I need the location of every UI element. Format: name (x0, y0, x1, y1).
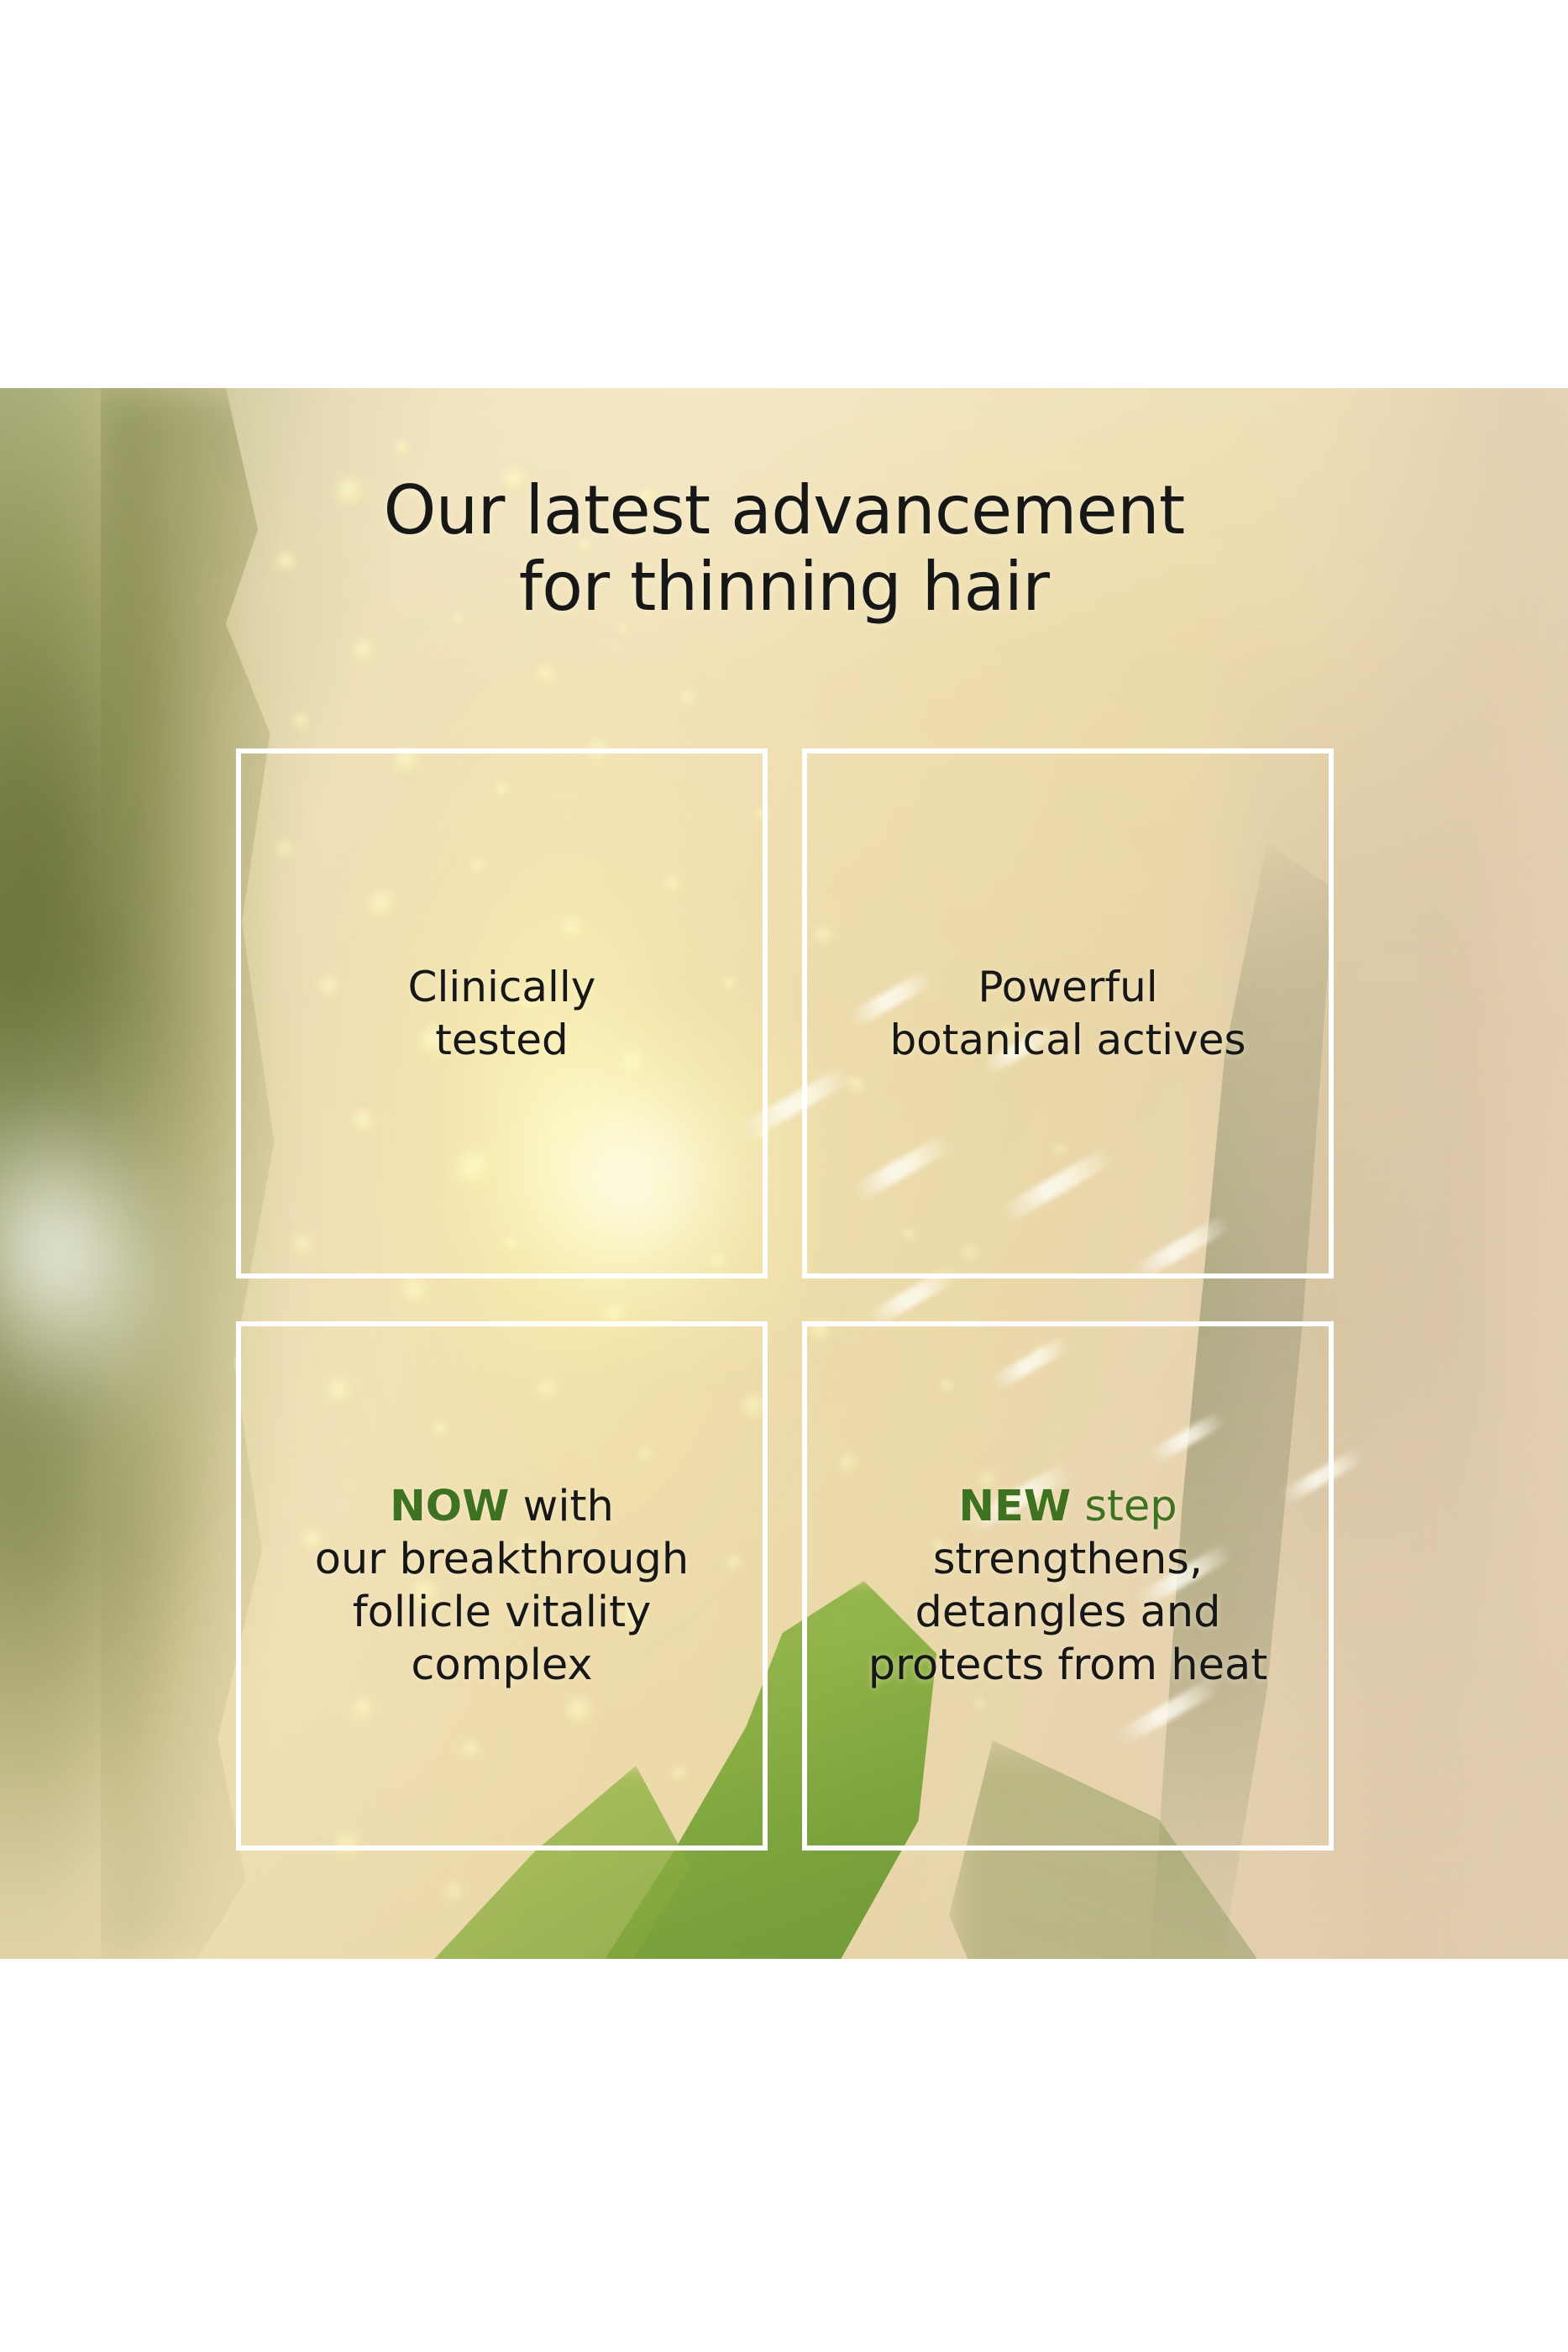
benefit-box-new-step-benefits: NEW stepstrengthens,detangles andprotect… (802, 1321, 1334, 1851)
benefit-text-clinically-tested: Clinicallytested (396, 961, 608, 1067)
benefit-box-botanical-actives: Powerfulbotanical actives (802, 748, 1334, 1278)
benefit-grid: Clinicallytested Powerfulbotanical activ… (236, 748, 1334, 1851)
benefit-text-new-step-benefits: NEW stepstrengthens,detangles andprotect… (857, 1480, 1279, 1693)
content-overlay: Our latest advancement for thinning hair… (0, 388, 1568, 1959)
poster-canvas: Our latest advancement for thinning hair… (0, 0, 1568, 2352)
hero-photo-background: Our latest advancement for thinning hair… (0, 388, 1568, 1959)
headline-line-2: for thinning hair (0, 549, 1568, 625)
headline-line-1: Our latest advancement (0, 472, 1568, 549)
benefit-box-clinically-tested: Clinicallytested (236, 748, 768, 1278)
benefit-box-follicle-vitality-complex: NOW withour breakthroughfollicle vitalit… (236, 1321, 768, 1851)
benefit-text-follicle-vitality-complex: NOW withour breakthroughfollicle vitalit… (303, 1480, 700, 1693)
headline: Our latest advancement for thinning hair (0, 472, 1568, 625)
benefit-text-botanical-actives: Powerfulbotanical actives (878, 961, 1257, 1067)
